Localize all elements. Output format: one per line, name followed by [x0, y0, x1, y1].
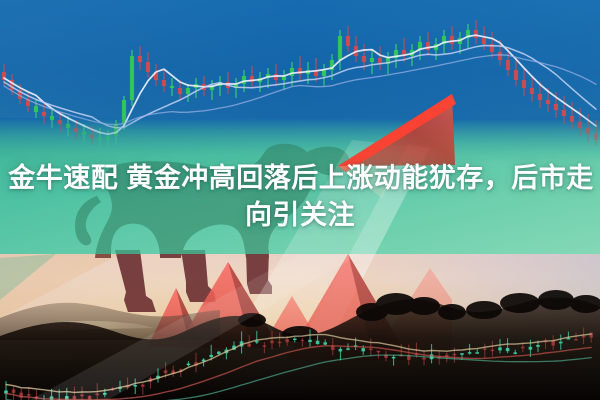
news-thumbnail: 金牛速配 黄金冲高回落后上涨动能犹存，后市走 向引关注	[0, 0, 600, 400]
light-streak	[0, 0, 600, 400]
